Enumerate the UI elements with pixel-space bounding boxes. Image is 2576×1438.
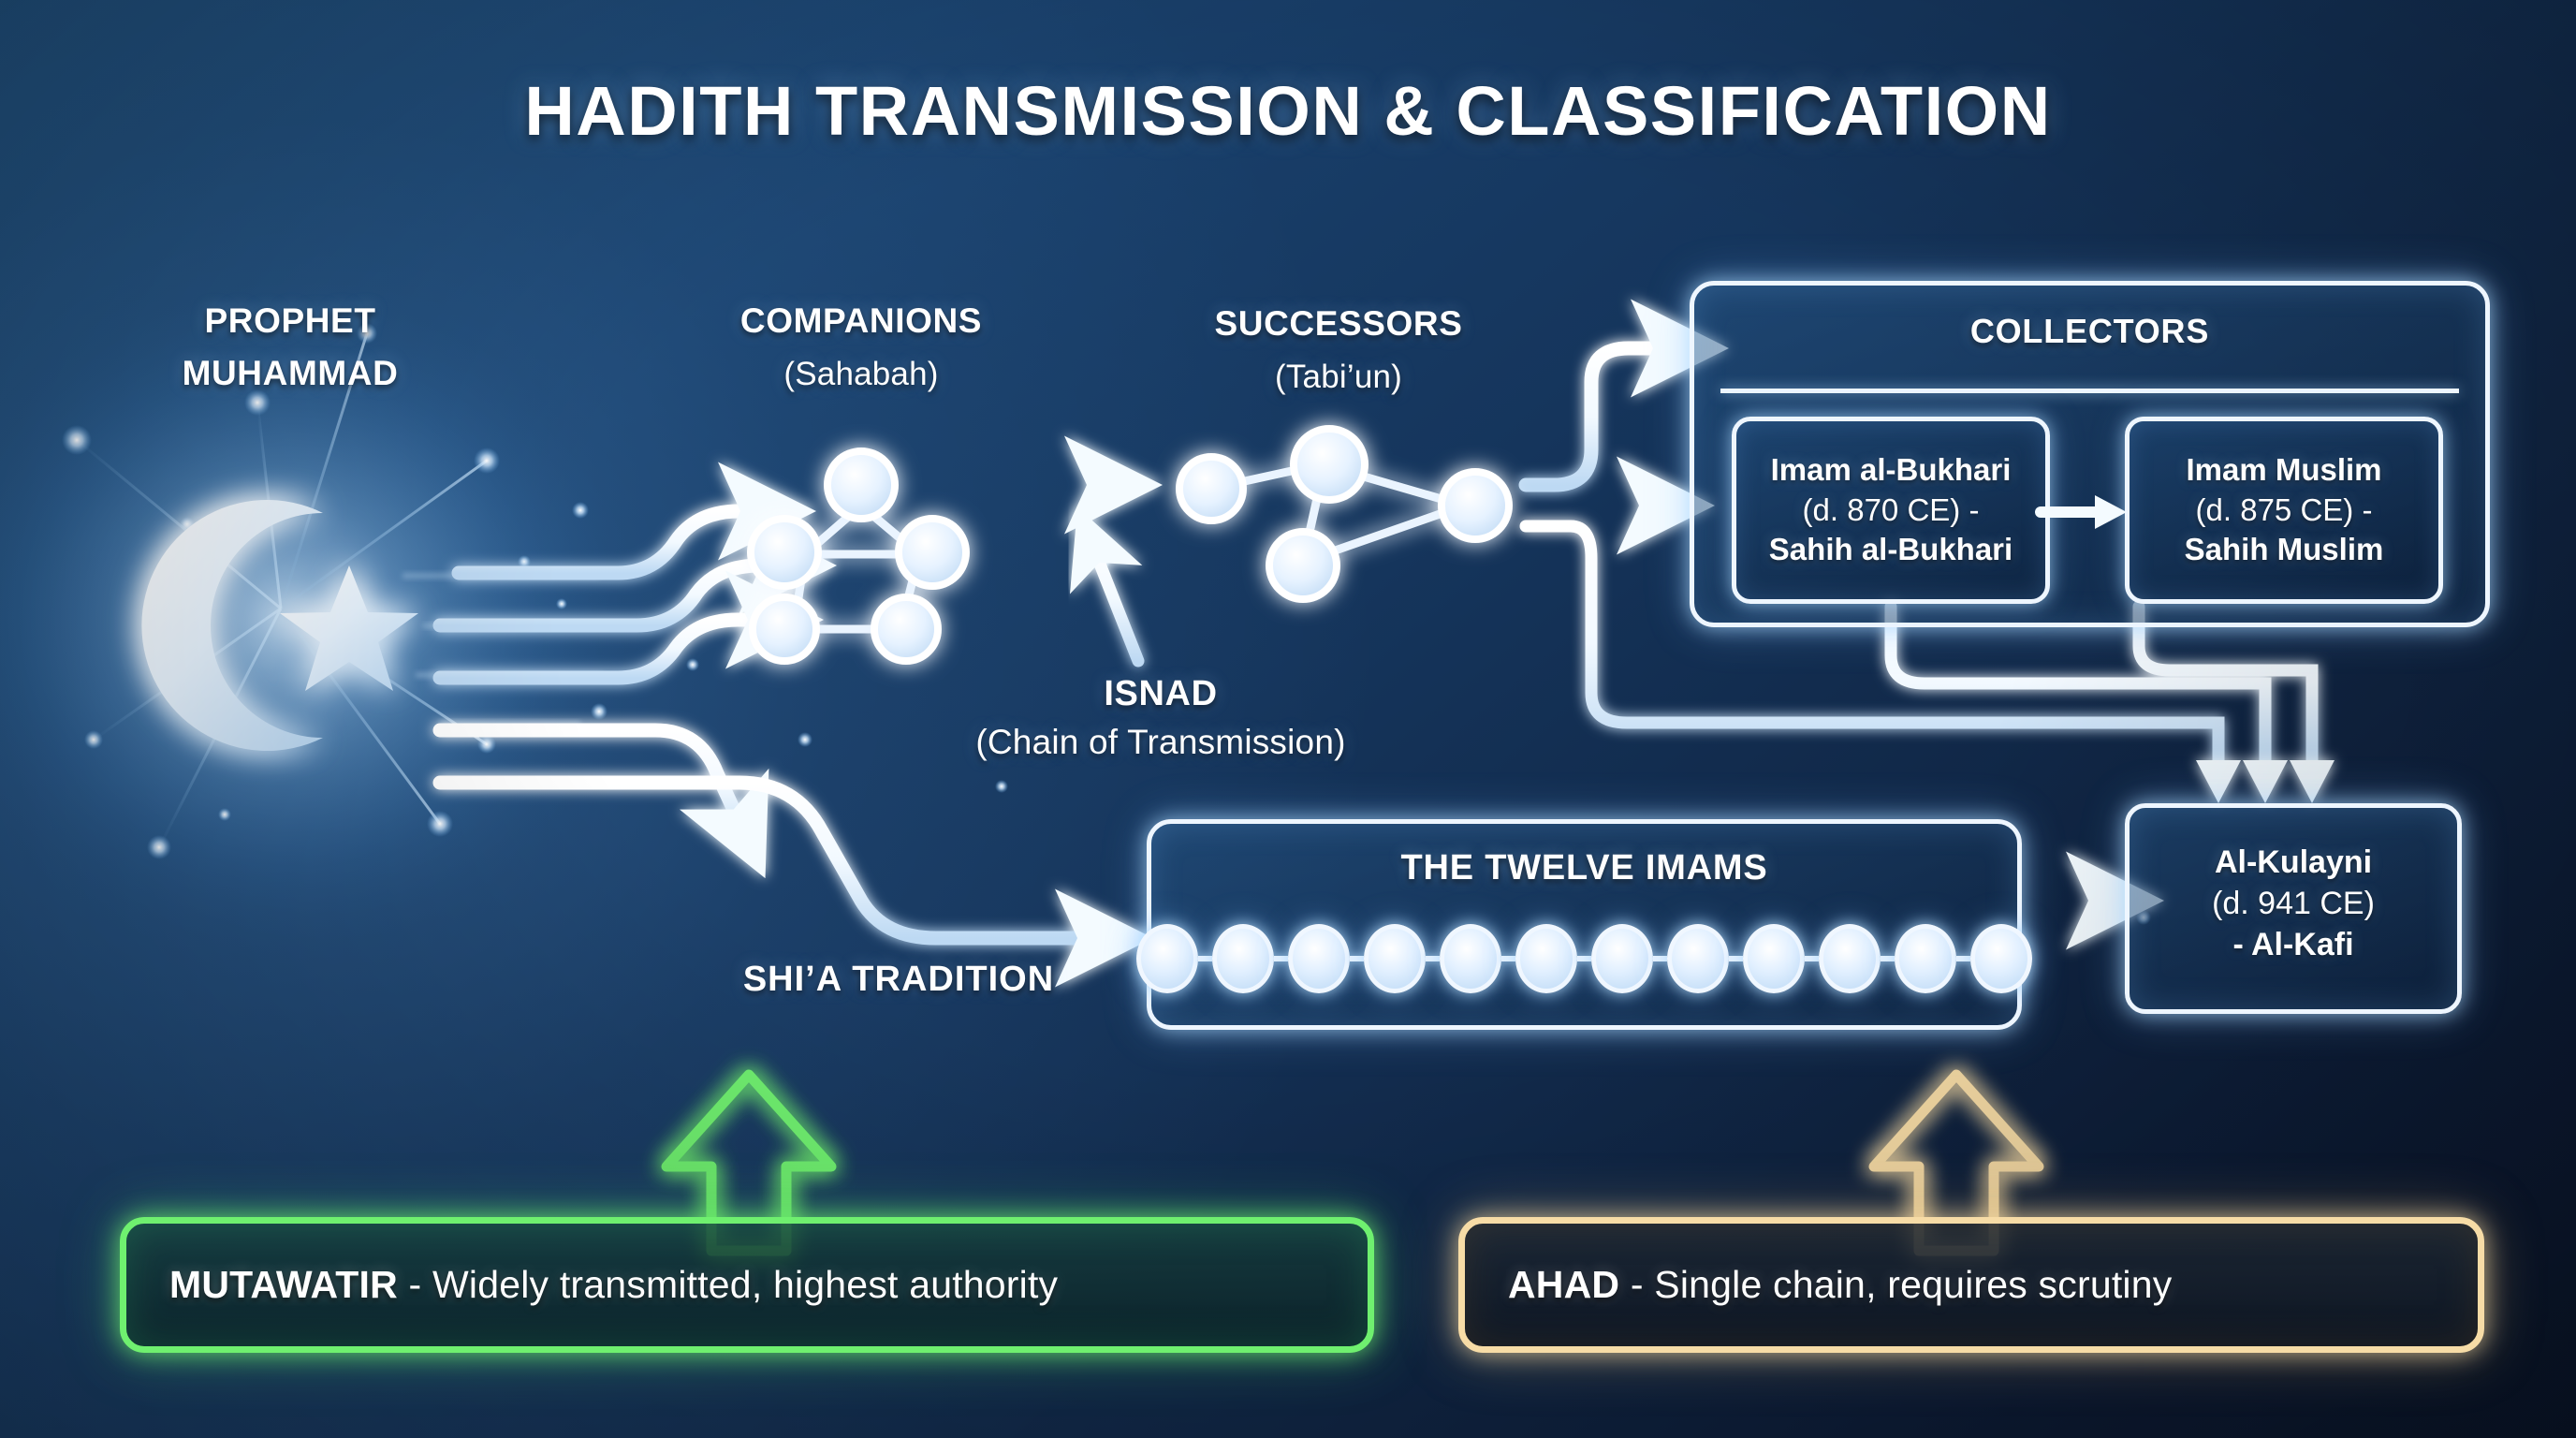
imam-chain-link [1274, 956, 1288, 961]
mutawatir-term: MUTAWATIR [169, 1263, 398, 1306]
ahad-banner: AHAD - Single chain, requires scrutiny [1458, 1217, 2484, 1353]
imam-node[interactable] [1136, 924, 1198, 993]
collector-bukhari-text: Imam al-Bukhari (d. 870 CE) - Sahih al-B… [1769, 450, 2012, 571]
imam-node[interactable] [1667, 924, 1729, 993]
isnad-sublabel: (Chain of Transmission) [880, 723, 1442, 761]
collectors-divider [1720, 389, 2459, 393]
page-title: HADITH TRANSMISSION & CLASSIFICATION [0, 73, 2576, 151]
ahad-term: AHAD [1508, 1263, 1619, 1306]
mutawatir-banner: MUTAWATIR - Widely transmitted, highest … [120, 1217, 1374, 1353]
stage-sub-prophet: MUHAMMAD [122, 354, 459, 392]
imam-node[interactable] [1743, 924, 1805, 993]
imam-node[interactable] [1288, 924, 1350, 993]
imam-chain-link [1198, 956, 1212, 961]
collector-card-bukhari[interactable]: Imam al-Bukhari (d. 870 CE) - Sahih al-B… [1732, 417, 2050, 604]
twelve-imams-panel: THE TWELVE IMAMS [1147, 819, 2022, 1030]
kulayni-card[interactable]: Al-Kulayni (d. 941 CE) - Al-Kafi [2125, 803, 2462, 1014]
imam-node[interactable] [1819, 924, 1881, 993]
ahad-description: - Single chain, requires scrutiny [1619, 1263, 2172, 1306]
collectors-heading: COLLECTORS [1694, 312, 2485, 351]
imam-chain-link [1956, 956, 1970, 961]
stage-sub-successors: (Tabi’un) [1133, 359, 1544, 395]
imam-node[interactable] [1440, 924, 1501, 993]
twelve-imams-heading: THE TWELVE IMAMS [1151, 848, 2017, 888]
twelve-imams-chain [1183, 921, 1985, 996]
stage-label-successors: SUCCESSORS [1133, 304, 1544, 343]
bukhari-to-muslim-arrow [2037, 493, 2134, 531]
mutawatir-banner-text: MUTAWATIR - Widely transmitted, highest … [169, 1263, 1058, 1307]
imam-chain-link [1350, 956, 1364, 961]
imam-node[interactable] [1895, 924, 1956, 993]
collector-card-muslim[interactable]: Imam Muslim (d. 875 CE) - Sahih Muslim [2125, 417, 2443, 604]
imam-node[interactable] [1364, 924, 1426, 993]
ahad-banner-text: AHAD - Single chain, requires scrutiny [1508, 1263, 2172, 1307]
collectors-panel: COLLECTORS Imam al-Bukhari (d. 870 CE) -… [1690, 281, 2490, 627]
imam-chain-link [1653, 956, 1667, 961]
stage-label-companions: COMPANIONS [655, 301, 1067, 340]
stage-sub-companions: (Sahabah) [655, 356, 1067, 392]
imam-node[interactable] [1970, 924, 2032, 993]
imam-node[interactable] [1591, 924, 1653, 993]
imam-node[interactable] [1515, 924, 1577, 993]
imam-chain-link [1881, 956, 1895, 961]
stage-label-prophet: PROPHET [122, 301, 459, 340]
imam-node[interactable] [1212, 924, 1274, 993]
isnad-label: ISNAD [917, 674, 1404, 714]
imam-chain-link [1729, 956, 1743, 961]
imam-chain-link [1577, 956, 1591, 961]
infographic-canvas: HADITH TRANSMISSION & CLASSIFICATION PRO… [0, 0, 2576, 1438]
kulayni-text: Al-Kulayni (d. 941 CE) - Al-Kafi [2130, 842, 2457, 966]
mutawatir-description: - Widely transmitted, highest authority [398, 1263, 1058, 1306]
imam-chain-link [1426, 956, 1440, 961]
collector-muslim-text: Imam Muslim (d. 875 CE) - Sahih Muslim [2185, 450, 2384, 571]
imam-chain-link [1501, 956, 1515, 961]
shia-tradition-label: SHI’A TRADITION [655, 960, 1142, 1000]
imam-chain-link [1805, 956, 1819, 961]
